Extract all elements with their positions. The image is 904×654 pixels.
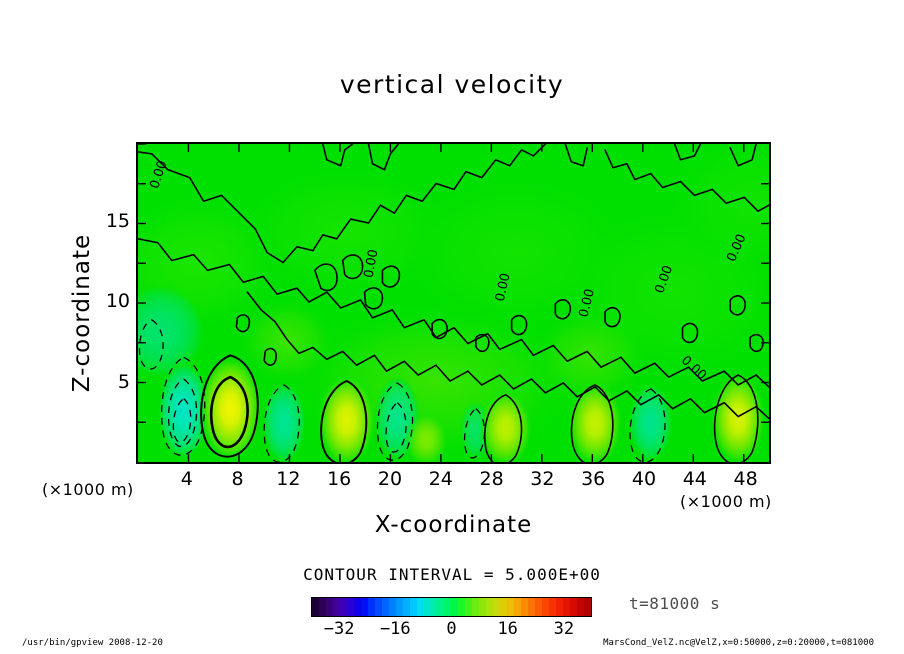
colorbar-swatch	[584, 598, 591, 616]
x-tick-label: 36	[581, 468, 605, 490]
colorbar-swatch	[382, 598, 389, 616]
colorbar-swatch	[347, 598, 354, 616]
y-axis-unit-label: (×1000 m)	[42, 480, 134, 499]
y-axis-title: Z-coordinate	[69, 183, 95, 443]
colorbar-swatch	[340, 598, 347, 616]
colorbar-swatch	[521, 598, 528, 616]
x-tick-label: 16	[327, 468, 351, 490]
colorbar-swatch	[479, 598, 486, 616]
colorbar-swatch	[333, 598, 340, 616]
x-tick-label: 20	[378, 468, 402, 490]
colorbar-swatch	[410, 598, 417, 616]
time-label: t=81000 s	[629, 594, 720, 613]
colorbar-swatch	[375, 598, 382, 616]
x-tick-label: 40	[632, 468, 656, 490]
y-tick-label: 10	[90, 290, 130, 312]
colorbar-swatch	[368, 598, 375, 616]
colorbar-swatch	[514, 598, 521, 616]
colorbar	[311, 597, 592, 617]
colorbar-swatch	[326, 598, 333, 616]
x-axis-unit-label: (×1000 m)	[680, 492, 772, 511]
x-tick-label: 44	[683, 468, 707, 490]
x-tick-label: 4	[181, 468, 193, 490]
x-tick-label: 8	[232, 468, 244, 490]
x-axis-title: X-coordinate	[136, 512, 771, 538]
colorbar-swatch	[472, 598, 479, 616]
velocity-field: 0.00 0.00 0.00 0.00 0.00 0.00 0.00	[138, 144, 769, 462]
footer-command: /usr/bin/gpview 2008-12-20	[22, 638, 163, 648]
colorbar-swatch	[424, 598, 431, 616]
colorbar-swatch	[549, 598, 556, 616]
colorbar-tick-label: 16	[497, 619, 517, 639]
colorbar-swatch	[451, 598, 458, 616]
colorbar-swatch	[486, 598, 493, 616]
colorbar-swatch	[493, 598, 500, 616]
colorbar-swatch	[389, 598, 396, 616]
x-tick-label: 32	[530, 468, 554, 490]
contour-plot-panel: 0.00 0.00 0.00 0.00 0.00 0.00 0.00	[136, 142, 771, 464]
colorbar-gradient	[311, 597, 592, 617]
colorbar-tick-label: −32	[324, 619, 355, 639]
colorbar-swatch	[354, 598, 361, 616]
colorbar-swatch	[396, 598, 403, 616]
x-tick-label: 28	[480, 468, 504, 490]
colorbar-swatch	[563, 598, 570, 616]
footer-source: MarsCond_VelZ.nc@VelZ,x=0:50000,z=0:2000…	[603, 638, 874, 648]
x-tick-label: 48	[734, 468, 758, 490]
colorbar-swatch	[458, 598, 465, 616]
colorbar-swatch	[535, 598, 542, 616]
colorbar-swatch	[361, 598, 368, 616]
x-axis-ticks: 4812162024283236404448	[136, 468, 771, 494]
colorbar-tick-label: 32	[554, 619, 574, 639]
x-tick-label: 12	[276, 468, 300, 490]
colorbar-swatch	[500, 598, 507, 616]
x-tick-label: 24	[429, 468, 453, 490]
colorbar-swatch	[312, 598, 319, 616]
colorbar-tick-label: −16	[380, 619, 411, 639]
y-tick-label: 15	[90, 210, 130, 232]
colorbar-swatch	[465, 598, 472, 616]
colorbar-swatch	[437, 598, 444, 616]
y-tick-label: 5	[90, 371, 130, 393]
colorbar-swatch	[417, 598, 424, 616]
colorbar-swatch	[528, 598, 535, 616]
colorbar-swatch	[577, 598, 584, 616]
colorbar-swatch	[542, 598, 549, 616]
colorbar-swatch	[403, 598, 410, 616]
colorbar-ticks: −32−1601632	[311, 619, 592, 641]
colorbar-swatch	[556, 598, 563, 616]
contour-interval-label: CONTOUR INTERVAL = 5.000E+00	[0, 565, 904, 584]
colorbar-swatch	[319, 598, 326, 616]
colorbar-swatch	[444, 598, 451, 616]
colorbar-swatch	[430, 598, 437, 616]
colorbar-tick-label: 0	[446, 619, 456, 639]
colorbar-swatch	[570, 598, 577, 616]
page-title: vertical velocity	[0, 70, 904, 99]
colorbar-swatch	[507, 598, 514, 616]
